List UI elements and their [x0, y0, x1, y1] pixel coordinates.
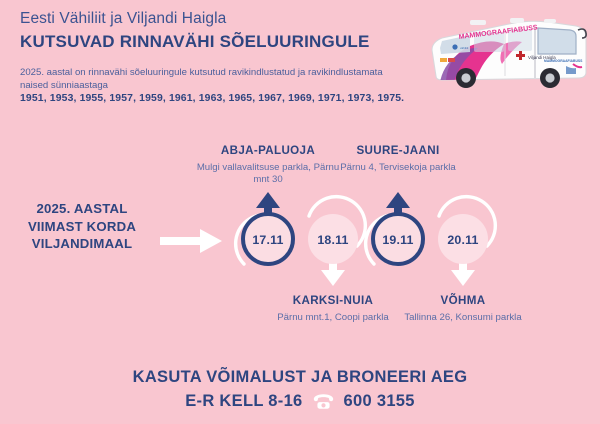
stop-address: Pärnu mnt.1, Coopi parkla	[253, 312, 413, 324]
organization-line: Eesti Vähiliit ja Viljandi Haigla	[20, 10, 226, 28]
stop-address: Mulgi vallavalitsuse parkla, Pärnu mnt 3…	[188, 162, 348, 187]
footer: KASUTA VÕIMALUST JA BRONEERI AEG E-R KEL…	[0, 368, 600, 411]
callout-line-3: VILJANDIMAAL	[8, 235, 156, 253]
stop-label-suure-jaani: SUURE-JAANI Pärnu 4, Tervisekoja parkla	[330, 144, 466, 174]
footer-cta-text: KASUTA VÕIMALUST JA BRONEERI AEG	[0, 368, 600, 387]
svg-text:Viljandi Haigla: Viljandi Haigla	[528, 55, 556, 60]
telephone-icon	[312, 393, 335, 410]
timeline-pin-17-11[interactable]: 17.11	[231, 186, 305, 296]
timeline-pin-18-11[interactable]: 18.11	[296, 186, 370, 296]
pin-date-label: 19.11	[361, 233, 435, 247]
stop-name: ABJA-PALUOJA	[188, 144, 348, 157]
pin-date-label: 17.11	[231, 233, 305, 247]
stop-label-karksi-nuia: KARKSI-NUIA Pärnu mnt.1, Coopi parkla	[253, 294, 413, 324]
callout-viljandimaa: 2025. AASTAL VIIMAST KORDA VILJANDIMAAL	[8, 200, 156, 253]
arrow-right-icon	[160, 228, 222, 254]
stop-label-vohma: VÕHMA Tallinna 26, Konsumi parkla	[398, 294, 528, 324]
poster-root: Eesti Vähiliit ja Viljandi Haigla KUTSUV…	[0, 0, 600, 424]
footer-phone-number: 600 3155	[344, 392, 415, 411]
timeline-pin-19-11[interactable]: 19.11	[361, 186, 435, 296]
timeline-pin-20-11[interactable]: 20.11	[426, 186, 500, 296]
mammography-bus-image: MAMMOGRAAFIABUSS MAMMOGRAAFIABUSS Viljan…	[418, 14, 590, 96]
stop-address: Tallinna 26, Konsumi parkla	[398, 312, 528, 324]
birth-years-list: 1951, 1953, 1955, 1957, 1959, 1961, 1963…	[20, 92, 410, 106]
callout-line-2: VIIMAST KORDA	[8, 218, 156, 236]
footer-hours: E-R KELL 8-16	[185, 392, 302, 411]
bus-icon: MAMMOGRAAFIABUSS MAMMOGRAAFIABUSS Viljan…	[418, 14, 590, 96]
invitation-body-text: 2025. aastal on rinnavähi sõeluuringule …	[20, 66, 400, 92]
page-title: KUTSUVAD RINNAVÄHI SÕELUURINGULE	[20, 32, 370, 52]
pin-date-label: 20.11	[426, 233, 500, 247]
stop-name: KARKSI-NUIA	[253, 294, 413, 307]
stop-address: Pärnu 4, Tervisekoja parkla	[330, 162, 466, 174]
stop-name: SUURE-JAANI	[330, 144, 466, 157]
callout-line-1: 2025. AASTAL	[8, 200, 156, 218]
stop-label-abja-paluoja: ABJA-PALUOJA Mulgi vallavalitsuse parkla…	[188, 144, 348, 187]
stop-name: VÕHMA	[398, 294, 528, 307]
pin-date-label: 18.11	[296, 233, 370, 247]
footer-contact-row: E-R KELL 8-16 600 3155	[0, 392, 600, 411]
svg-text:vähiliit: vähiliit	[460, 46, 469, 50]
